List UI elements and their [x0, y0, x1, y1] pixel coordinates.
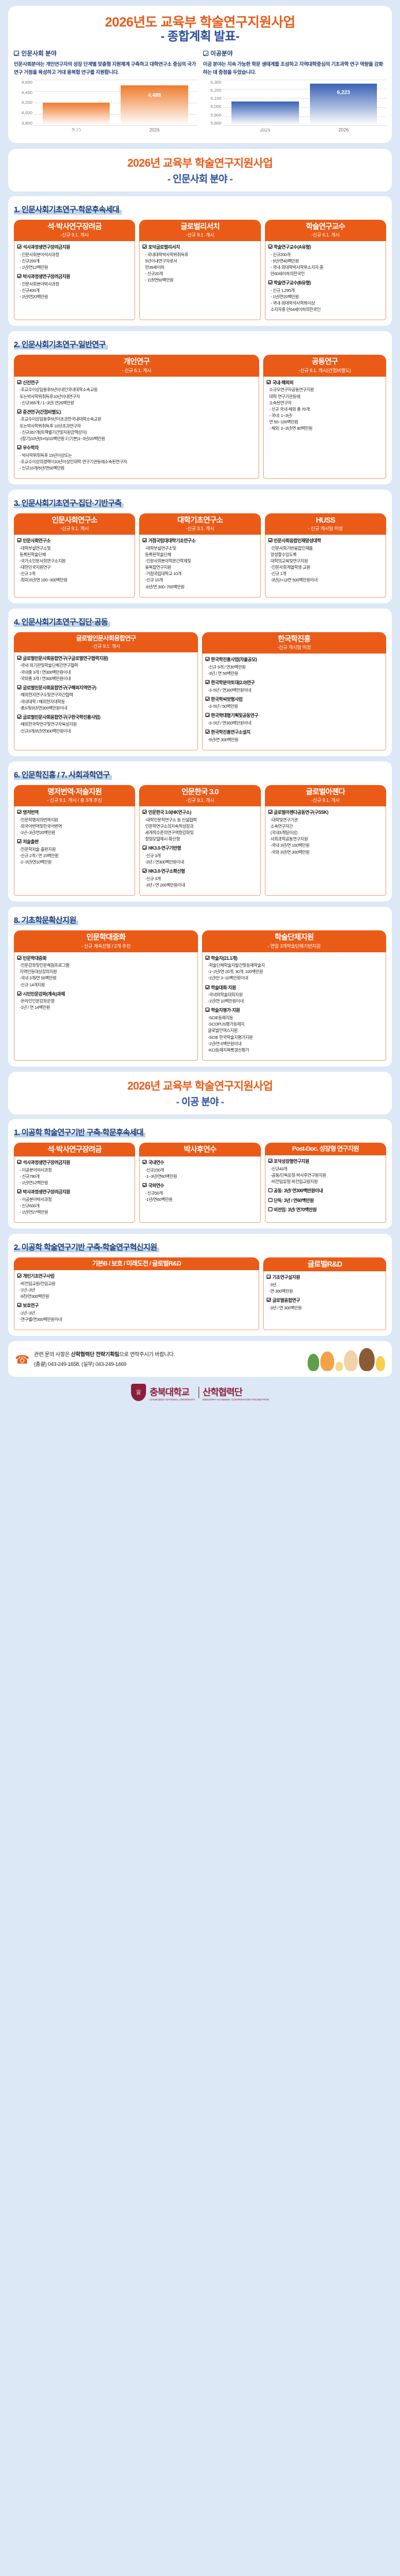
program-card[interactable]: 인문사회연구소-신규 9.1. 개시인문사회연구소-대학부설연구소및 등록된학술… — [14, 513, 135, 598]
card-item-detail-line: -인문사회분야학문간학제및 — [145, 558, 257, 564]
program-group: 2. 이공학 학술연구기반 구축-학술연구혁신지원기본B / 보호 / 미래도전… — [8, 1234, 392, 1336]
card-item: 한국학씨앗형사업-3~5년 / 50백만원 — [205, 696, 383, 710]
card-item-details: -5년/연 300백만원 — [205, 737, 383, 743]
card-item-label: HK3.0-연구기반형 — [148, 845, 181, 852]
card-body: 글로벌아젠다공동연구(구SSK)-대학및연구기관 소속연구자간 (국내3개팀이상… — [265, 806, 386, 896]
card-title: 석·박사연구장려금 — [16, 223, 133, 231]
checkbox-icon — [17, 715, 21, 719]
card-item-details: - 박사학위취득후 15년이상또는-조교수이상의경력이10년이상인대학·연구기관… — [17, 452, 256, 471]
card-item-details: -신규150개-1~3년/연60백만원 — [143, 1167, 257, 1180]
card-item-detail-line: -1년/만 3~10백만원이내 — [208, 975, 383, 981]
card-item-detail-line: -총3개/3년/연300백만원이내 — [20, 705, 195, 711]
bar-2025: 5,958 — [226, 102, 305, 125]
card-item-details: - 이공분야석사과정- 신규790개- 1년/연12백만원 — [17, 1167, 132, 1186]
card-item-label: 학술연구교수(A유형) — [274, 244, 311, 251]
card-item-detail-line: (국내3개팀이상) — [271, 829, 383, 836]
card-item: 국외연수- 신규50개-1년/연60백만원 — [143, 1182, 257, 1203]
card-item-label: 국내·해외의 — [272, 380, 293, 386]
card-item-detail-line: -대학부설연구소및 — [20, 545, 132, 551]
card-item: 글로벌인문사회융합연구(구해외지역연구)-해외현지연구소및연구자간협력-국내대학… — [17, 685, 195, 711]
card-item-label: 인문한국 3.0(HK연구소) — [148, 809, 191, 816]
card-item: 보호연구-1년~3년-연구별/연300백만원이내 — [17, 1302, 256, 1323]
mascot-group — [308, 1348, 385, 1371]
card-item-label: 한국학분야토대(2.0)연구 — [211, 679, 255, 686]
card-item-detail-line: - 인문사회분야석사과정 — [20, 251, 132, 258]
card-title: 글로벌리서치 — [141, 223, 258, 231]
card-item-detail-line: -9천/연300백만원 — [20, 1293, 256, 1300]
card-item-detail-line: 소지자중 만64세이하의한국인 — [271, 306, 383, 313]
card-item-detail-line: -인문사회계열학생·교원 — [271, 564, 383, 570]
card-item-header: 인문한국 3.0(HK연구소) — [143, 809, 257, 816]
hero-col-humanities: 인문사회 분야 인문사회분야는 개인연구자의 성장 단계별 맞춤형 지원체계 구… — [14, 49, 197, 136]
card-item-detail-line: -국외총 3개 / 연300백만원이내 — [20, 675, 195, 682]
card-item: 포닥글로벌리서치- 국내대학박사학위취득후 5년이내연구자로서 만39세이하- … — [143, 244, 257, 283]
card-item-header: 인문사회융합인재양성대학 — [268, 538, 383, 545]
card-header: 인문한국 3.0-신규 9.1. 개시 — [139, 785, 260, 806]
card-item-detail-line: - 박사학위취득후 15년이상또는 — [20, 452, 256, 459]
card-item-detail-line: -국내총 3개 / 연300백만원이내 — [20, 669, 195, 675]
bar-value: 4,191 — [37, 127, 115, 133]
card-item-detail-line: -대학인문학연구소 등 신설협력 — [145, 817, 257, 823]
card-item-details: -대학및연구기관 소속연구자간 (국내3개팀이상) 사회과학공동연구지원-국내 … — [268, 817, 383, 855]
card-item-header: 글로벌인문사회융합연구(구한국학진흥사업) — [17, 714, 195, 721]
checkbox-icon — [17, 380, 21, 384]
card-item-header: 글로벌인문사회융합연구(구해외지역연구) — [17, 685, 195, 692]
hero-columns: 인문사회 분야 인문사회분야는 개인연구자의 성장 단계별 맞춤형 지원체계 구… — [14, 49, 386, 136]
card-item-detail-line: 연 50~100백만원 — [269, 419, 383, 425]
card-title: 개인연구 — [16, 358, 257, 366]
card-item-header: 국내연수 — [143, 1159, 257, 1166]
checkbox-icon — [143, 810, 147, 814]
card-item-detail-line: -신규 14개지원 — [20, 982, 195, 988]
card-item-header: 신진연구 — [17, 380, 256, 386]
card-item-detail-line: -(장기)10년(5+5)/10백만원 // (기본)1~3년/20백만원 — [20, 435, 256, 442]
card-item: 국내연수-신규150개-1~3년/연60백만원 — [143, 1159, 257, 1180]
card-item-detail-line: - 신규 1,295개 — [271, 287, 383, 294]
card-item-detail-line: -3년 / 연 300백만원 — [269, 1305, 383, 1311]
card-item-details: -신규 3개-3년 / 연300백만원이내 — [143, 853, 257, 865]
card-body: 국내·해외의소규모연구자공동연구지원대학·연구기관등에소속된연구자- 신규 국내… — [263, 377, 386, 479]
card-item-detail-line: -신규43개 — [271, 1166, 383, 1172]
card-item-detail-line: - 신규50개 — [145, 1190, 257, 1196]
card-item-detail-line: - 이공분야석사과정 — [20, 1167, 132, 1173]
card-item-detail-line: -국내대학 / 해외현지대학등 — [20, 699, 195, 705]
y-tick: 6,200 — [203, 88, 222, 93]
checkbox-empty-icon — [268, 1207, 272, 1211]
card-item-detail-line: - 1년/연12백만원 — [20, 1180, 132, 1186]
card-item: 학술지(21.1개)-학술단체학술지발간및등재학술지-1~2년/연 20개, 3… — [205, 955, 383, 982]
card-item-detail-line: -학술단체학술지발간및등재학술지 — [208, 962, 383, 968]
checkbox-icon — [17, 685, 21, 689]
contact-footer: ☎ 관련 문의 사항은 산학협력단 전략기획팀으로 연락주시기 바랍니다. (총… — [8, 1341, 392, 1377]
card-item-details: -SCIE등재지등-SCOPUS평가등재지 글로벌인덱스지원-SCIE 한국학술… — [205, 1015, 383, 1053]
program-card[interactable]: 글로벌아젠다-신규 9.1. 개시글로벌아젠다공동연구(구SSK)-대학및연구기… — [265, 785, 386, 896]
card-subtitle: - 신규 계속진행 / 2개 추진 — [16, 942, 196, 949]
group-title: 2. 인문사회기초연구-일반연구 — [14, 338, 108, 350]
card-item-detail-line: 소규모연구자공동연구지원 — [269, 386, 383, 393]
bar-value: 4,489 — [115, 92, 194, 98]
card-header: 대학기초연구소-신규 3.1. 개시 — [139, 513, 260, 535]
card-item-detail-line: -온라인인문강좌운영 — [20, 998, 195, 1004]
card-item-detail-line: -국내 3개/연 50백만원 — [20, 975, 195, 981]
logo-dept-name: 산학협력단 — [203, 1384, 269, 1398]
checkbox-icon — [205, 697, 210, 701]
hero-science-heading-label: 이공분야 — [211, 49, 233, 58]
groups-science: 1. 이공학 학술연구기반 구축-학문후속세대석·박사연구장려금석사과정생연구장… — [8, 1119, 392, 1336]
card-item-detail-line: -신규 1개 — [271, 570, 383, 577]
card-item-detail-line: 인문학연구소의지속적성장과 — [145, 823, 257, 829]
checkbox-icon — [205, 680, 210, 684]
card-header: 인문학대중화- 신규 계속진행 / 2개 추진 — [14, 930, 198, 952]
group-title: 4. 인문사회기초연구-집단·공동 — [14, 615, 110, 628]
card-item-label: 학술지평가·지원 — [211, 1007, 240, 1014]
program-card[interactable]: HUSS- 신규 개시일 미정인문사회융합인재양성대학-인문사회기반융합인재를 … — [265, 513, 386, 598]
card-item-details: -3~5년 / 50백만원 — [205, 703, 383, 709]
card-item-detail-line: 대학의교육및연구지원 — [271, 558, 383, 564]
card-item-header: 학술지(21.1개) — [205, 955, 383, 962]
card-item-label: 석사과정생연구장려금지원 — [23, 244, 70, 251]
card-subtitle: -신규 개시일 미정 — [204, 644, 384, 651]
card-item-detail-line: -국외 3년/연 300백만원 — [271, 849, 383, 855]
card-item: 중견연구(간접비별도)-조교수이상임용후5년이초과한국내대학소속교원 또는박사학… — [17, 409, 256, 442]
bar-2026: 4,489 — [115, 85, 194, 125]
program-card[interactable]: 한국학진흥-신규 개시일 미정한국학진흥사업(자율공모)-신규 9개 / 연30… — [202, 632, 386, 750]
card-title: 한국학진흥 — [204, 635, 384, 643]
card-body: 기초연구실지원-3년-연 300백만원글로벌융합연구-3년 / 연 300백만원 — [263, 1271, 386, 1330]
card-item-label: 인문사회융합인재양성대학 — [274, 538, 321, 545]
card-item-detail-line: 글로벌인덱스지원 — [208, 1027, 383, 1034]
card-item-detail-line: 만60세이하의한국인 — [271, 271, 383, 277]
card-item-details: -3~5년 / 연300백만원이내 — [205, 687, 383, 693]
card-item-detail-line: 5년이내연구자로서 — [145, 258, 257, 264]
checkbox-icon — [267, 1298, 271, 1302]
card-item-detail-line: 사회과학공동연구지원 — [271, 836, 383, 842]
card-header: 학술연구교수-신규 6.1. 개시 — [265, 220, 386, 241]
card-item-detail-line: - 신규600개 — [20, 1203, 132, 1209]
program-card[interactable]: 박사후연수국내연수-신규150개-1~3년/연60백만원국외연수- 신규50개-… — [139, 1143, 260, 1223]
card-item: 명저번역-인문학명저의번역지원-외국어번역및한국어번역-1년~3년/연20백만원 — [17, 809, 132, 836]
hero-col-science: 이공분야 이공 분야는 지속 가능한 학문 생태계를 조성하고 지역대학중심의 … — [203, 49, 387, 136]
banner-science: 2026년 교육부 학술연구지원사업 - 이공 분야 - — [8, 1072, 392, 1114]
card-subtitle: -신규 9.1. 개시 — [141, 797, 258, 803]
card-item-detail-line: -해외한국학연구및연구자육성지원 — [20, 721, 195, 727]
mascot-chick-icon — [335, 1362, 343, 1371]
card-item-detail-line: -1년~3년 — [20, 1287, 256, 1293]
card-item-details: -1년~3년-연구별/연300백만원이내 — [17, 1310, 256, 1323]
card-header: 박사후연수 — [139, 1143, 260, 1156]
program-card[interactable]: 석·박사연구장려금석사과정생연구장려금지원- 이공분야석사과정- 신규790개-… — [14, 1143, 135, 1223]
card-item-detail-line: 정형모델제시·확산형 — [145, 836, 257, 842]
y-tick: 6,300 — [203, 80, 222, 85]
program-card[interactable]: 글로벌리서치-신규 9.1. 개시포닥글로벌리서치- 국내대학박사학위취득후 5… — [139, 220, 260, 321]
program-group: 6. 인문학진흥 / 7. 사회과학연구명저번역·저술지원- 신규 9.1. 개… — [8, 761, 392, 902]
y-tick: 4,000 — [14, 110, 32, 115]
card-title: 학술연구교수 — [267, 223, 384, 231]
card-item: 학술연구교수(A유형)- 신규200개- 5년/연40백만원- 국내·외대학박사… — [268, 244, 383, 277]
card-item: 석사과정생연구장려금지원- 인문사회분야석사과정- 신규200개- 1년/연12… — [17, 244, 132, 271]
program-card[interactable]: 학술연구교수-신규 6.1. 개시학술연구교수(A유형)- 신규200개- 5년… — [265, 220, 386, 321]
card-item-detail-line: - 이공분야박사과정 — [20, 1196, 132, 1203]
card-item-details: -3년 / 연 300백만원 — [267, 1305, 383, 1311]
card-item: 저술출판-인문학저술·출판지원-신규 2개 / 연 15백만원-2~3년/연10… — [17, 839, 132, 865]
card-item-header: 한국학분야토대(2.0)연구 — [205, 679, 383, 686]
card-body: 학술지(21.1개)-학술단체학술지발간및등재학술지-1~2년/연 20개, 3… — [202, 952, 386, 1061]
card-item-detail-line: - 신규355개 / 1~3년/ 연26백만원 — [20, 400, 256, 406]
card-item: 박사과정생연구장려금지원- 인문사회분야박사과정- 신규400개- 2년/연20… — [17, 273, 132, 300]
card-item-header: 명저번역 — [17, 809, 132, 816]
card-item-label: 한국학씨앗형사업 — [211, 696, 243, 703]
program-card[interactable]: 명저번역·저술지원- 신규 9.1. 개시 / 총 3개 추진명저번역-인문학명… — [14, 785, 135, 896]
card-item-label: 공동: 3년/ 연300백만원이내 — [274, 1188, 323, 1195]
card-item-header: 기초연구실지원 — [267, 1274, 383, 1281]
card-body: 포닥성장형연구지원-신규43개-공동/단독유형·박사후연구원지원-비전임유형·비… — [265, 1155, 386, 1223]
bar-2026: 6,223 — [304, 84, 383, 125]
card-item-label: 국외연수 — [148, 1182, 164, 1189]
card-item-detail-line: -인문학저술·출판지원 — [20, 846, 132, 853]
checkbox-icon — [268, 245, 272, 249]
card-item-label: 학술대회·지원 — [211, 985, 236, 992]
card-item-label: 저술출판 — [23, 839, 39, 846]
card-item-detail-line: -신규 3개 — [145, 876, 257, 882]
card-item-details: -학술단체학술지발간및등재학술지-1~2년/연 20개, 30개, 100백만원… — [205, 962, 383, 981]
card-item-label: 인문학대중화 — [23, 955, 47, 962]
card-item-details: - 신규 1,295개- 1년/연20백만원- 국내·외대학석사학위이상 소지자… — [268, 287, 383, 313]
card-body: 한국학진흥사업(자율공모)-신규 9개 / 연30백만원-3년 / 연 50백만… — [202, 654, 386, 750]
card-item-header: 개인기초연구사업 — [17, 1273, 256, 1280]
card-item-detail-line: 융복합연구지원 — [145, 564, 257, 570]
card-item-label: 글로벌인문사회융합연구(구해외지역연구) — [23, 685, 96, 692]
y-tick: 5,900 — [203, 112, 222, 118]
checkbox-icon — [17, 1303, 21, 1307]
card-item-label: 인문사회연구소 — [23, 538, 51, 545]
card-item: HK3.0-연구기반형-신규 3개-3년 / 연300백만원이내 — [143, 845, 257, 865]
card-item: 국내·해외의소규모연구자공동연구지원대학·연구기관등에소속된연구자- 신규 국내… — [267, 380, 383, 431]
card-item: 공동: 3년/ 연300백만원이내 — [268, 1188, 383, 1195]
program-card[interactable]: 글로벌R&D기초연구실지원-3년-연 300백만원글로벌융합연구-3년 / 연 … — [263, 1257, 386, 1330]
card-item-details: - 신규50개-1년/연60백만원 — [143, 1190, 257, 1203]
card-body: 인문사회융합인재양성대학-인문사회기반융합인재를 양성할수있도록 대학의교육및연… — [265, 535, 386, 597]
card-item-details: -해외한국학연구및연구자육성지원-신규3개/3년/연300백만원이내 — [17, 721, 195, 734]
program-card[interactable]: 인문학대중화- 신규 계속진행 / 2개 추진인문학대중화-인문강좌및인문체험프… — [14, 930, 198, 1061]
card-item-details: -조교수이상임용후5년이내인국내대학소속교원 또는박사학위취득후10년이내연구자… — [17, 386, 256, 405]
card-body: 석사과정생연구장려금지원- 인문사회분야석사과정- 신규200개- 1년/연12… — [14, 241, 135, 320]
card-item-detail-line: -외국어번역및한국어번역 — [20, 823, 132, 829]
card-item-header: 박사과정생연구장려금지원 — [17, 1189, 132, 1196]
card-item-detail-line: - 국내·외대학석사학위이상 — [271, 300, 383, 306]
x-tick: 2026 — [115, 127, 194, 133]
card-item: 한국학진흥사업(자율공모)-신규 9개 / 연30백만원-3년 / 연 50백만… — [205, 656, 383, 677]
card-title: 대학기초연구소 — [141, 516, 258, 524]
card-item-details: -대학인문학연구소 등 신설협력 인문학연구소의지속적성장과 세계적수준의연구역… — [143, 817, 257, 842]
program-group: 8. 기초학문확산지원인문학대중화- 신규 계속진행 / 2개 추진인문학대중화… — [8, 907, 392, 1067]
checkbox-icon — [17, 274, 21, 278]
card-item-detail-line: 등록된학술단체 — [20, 551, 132, 558]
card-subtitle: -신규 6.1. 개시(간접비별도) — [266, 367, 384, 374]
card-item: 학술연구교수(B유형)- 신규 1,295개- 1년/연20백만원- 국내·외대… — [268, 280, 383, 313]
card-header: Post-Doc. 성장형 연구지원 — [265, 1143, 386, 1155]
checkbox-icon — [17, 445, 21, 449]
card-item-label: HK3.0-연구소확산형 — [148, 868, 185, 875]
card-item-detail-line: -3년 — [269, 1282, 383, 1288]
card-item-header: 공동: 3년/ 연300백만원이내 — [268, 1188, 383, 1195]
card-item-detail-line: 만39세이하 — [145, 264, 257, 271]
card-item-header: 글로벌융합연구 — [267, 1297, 383, 1304]
card-item-label: 박사과정생연구장려금지원 — [23, 1189, 70, 1196]
card-item-detail-line: -6년/연 300~700백만원 — [145, 584, 257, 590]
card-item-detail-line: - 5년/연40백만원 — [271, 258, 383, 264]
card-item-detail-line: -공동/단독유형·박사후연구원지원 — [271, 1172, 383, 1178]
card-title: 학술단체지원 — [204, 933, 384, 941]
card-item-label: 글로벌인문사회융합연구(구한국학진흥사업) — [23, 714, 100, 721]
card-item-header: 학술대회·지원 — [205, 985, 383, 992]
checkbox-icon — [267, 380, 271, 384]
card-item-label: 기초연구실지원 — [272, 1274, 300, 1281]
program-card[interactable]: 기본B / 보호 / 미래도전 / 글로벌R&D개인기초연구사업-비전임교원/전… — [14, 1257, 259, 1330]
card-item-detail-line: - 신규400개 — [20, 287, 132, 294]
program-card[interactable]: 대학기초연구소-신규 3.1. 개시거점국립대대학기초연구소-대학부설연구소및 … — [139, 513, 260, 598]
card-list: 인문사회연구소-신규 9.1. 개시인문사회연구소-대학부설연구소및 등록된학술… — [14, 513, 386, 598]
card-item-detail-line: - 신규357개(트랙별기간및지원금액상이) — [20, 429, 256, 435]
card-header: 인문사회연구소-신규 9.1. 개시 — [14, 513, 135, 535]
checkbox-empty-icon — [268, 1188, 272, 1192]
card-item-detail-line: - 1년/연27백만원 — [20, 1209, 132, 1215]
program-card[interactable]: Post-Doc. 성장형 연구지원포닥성장형연구지원-신규43개-공동/단독유… — [265, 1143, 386, 1223]
card-item-label: 보호연구 — [23, 1302, 39, 1309]
card-item-header: 시민인문강좌(계속)과제 — [17, 991, 195, 998]
card-title: 공동연구 — [266, 358, 384, 366]
card-item-details: -인문강좌및인문체험프로그램 지역민등대상강좌지원-국내 3개/연 50백만원-… — [17, 962, 195, 987]
card-item-details: -신규43개-공동/단독유형·박사후연구원지원-비전임유형·비전임교원지원 — [268, 1166, 383, 1185]
checkbox-icon — [143, 846, 147, 850]
checkbox-icon — [17, 538, 21, 542]
contact-line1-pre: 관련 문의 사항은 — [34, 1351, 71, 1357]
card-title: 인문한국 3.0 — [141, 788, 258, 796]
contact-team: 산학협력단 전략기획팀 — [71, 1351, 119, 1357]
card-subtitle: -신규 9.1. 개시 — [16, 231, 133, 238]
mascot-tiger-icon — [320, 1351, 334, 1371]
card-item-header: 학술연구교수(A유형) — [268, 244, 383, 251]
card-item-label: 단독: 3년 / 연60백만원 — [274, 1197, 313, 1204]
card-item-detail-line: -3~5년 / 50백만원 — [208, 703, 383, 709]
y-tick: 4,600 — [14, 80, 32, 85]
card-item-header: 석사과정생연구장려금지원 — [17, 244, 132, 251]
group-title: 2. 이공학 학술연구기반 구축-학술연구혁신지원 — [14, 1241, 159, 1253]
hero-panel: 2026년도 교육부 학술연구지원사업 - 종합계획 발표- 인문사회 분야 인… — [8, 6, 392, 143]
card-item-detail-line: 대학·연구기관등에 — [269, 393, 383, 400]
card-item: 학술대회·지원-국내외학술대회지원-1년/연 10백만원이내 — [205, 985, 383, 1005]
card-item-header: 글로벌인문사회융합연구(구글로벌연구협력지원) — [17, 655, 195, 662]
card-item-detail-line: -인문학명저의번역지원 — [20, 817, 132, 823]
card-item-label: 글로벌융합연구 — [272, 1297, 300, 1304]
card-item-detail-line: -3년 / 연300백만원이내 — [145, 859, 257, 865]
card-item-header: 국내·해외의 — [267, 380, 383, 386]
card-item-detail-line: -국가소인문사회연구소지원 — [20, 558, 132, 564]
hero-science-heading: 이공분야 — [203, 49, 387, 58]
card-item: 글로벌융합연구-3년 / 연 300백만원 — [267, 1297, 383, 1311]
card-item-detail-line: - 1년/연50백만원 — [145, 277, 257, 283]
card-item-details: -해외현지연구소및연구자간협력-국내대학 / 해외현지대학등-총3개/3년/연3… — [17, 692, 195, 711]
card-item-header: 단독: 3년 / 연60백만원 — [268, 1197, 383, 1204]
card-item: 글로벌인문사회융합연구(구글로벌연구협력지원)-국내·외기관및학술단체간연구협력… — [17, 655, 195, 682]
card-item: 한국학대형기획및공동연구-3~5년 / 연300백만원이내 — [205, 712, 383, 726]
card-item-detail-line: - 신규20개 — [145, 271, 257, 277]
phone-icon: ☎ — [15, 1353, 29, 1367]
card-item-detail-line: - 신규200개 — [271, 251, 383, 258]
bar-value: 5,958 — [226, 125, 305, 130]
card-item-label: 포닥성장형연구지원 — [274, 1158, 309, 1165]
card-item: 거점국립대대학기초연구소-대학부설연구소및 등록된학술단체-인문사회분야학문간학… — [143, 538, 257, 589]
card-item-detail-line: -3년(2+1)/연 500백만원이내 — [271, 577, 383, 583]
card-subtitle: -신규 9.1. 개시 — [141, 231, 258, 238]
card-item-detail-line: - 신규10개/5년/연50백만원 — [20, 465, 256, 471]
hero-title-line1: 2026년도 교육부 학술연구지원사업 — [14, 15, 386, 30]
card-item-detail-line: -국내·외기관및학술단체간연구협력 — [20, 662, 195, 669]
checkbox-icon — [267, 1275, 271, 1279]
card-item-details: -3년-연 300백만원 — [267, 1282, 383, 1294]
program-group: 3. 인문사회기초연구-집단·기반구축인문사회연구소-신규 9.1. 개시인문사… — [8, 490, 392, 603]
card-item-detail-line: -1년/연 10백만원이내 — [208, 998, 383, 1004]
card-body: 개인기초연구사업-비전임교원/전임교원-1년~3년-9천/연300백만원보호연구… — [14, 1270, 259, 1330]
card-item-label: 한국학진흥연구소설치 — [211, 729, 251, 736]
checkbox-icon — [143, 1160, 147, 1164]
program-card[interactable]: 개인연구- 신규 6.1. 개시신진연구-조교수이상임용후5년이내인국내대학소속… — [14, 355, 259, 478]
card-item-header: 한국학진흥사업(자율공모) — [205, 656, 383, 663]
card-item: 인문학대중화-인문강좌및인문체험프로그램 지역민등대상강좌지원-국내 3개/연 … — [17, 955, 195, 988]
card-item-detail-line: -국내외학술대회지원 — [208, 992, 383, 998]
card-item: 글로벌인문사회융합연구(구한국학진흥사업)-해외한국학연구및연구자육성지원-신규… — [17, 714, 195, 734]
card-header: 글로벌R&D — [263, 1257, 386, 1271]
card-item-detail-line: -1~2년/연 20개, 30개, 100백만원 — [208, 968, 383, 975]
card-item-details: -인문사회기반융합인재를 양성할수있도록 대학의교육및연구지원-인문사회계열학생… — [268, 545, 383, 584]
program-card[interactable]: 석·박사연구장려금-신규 9.1. 개시석사과정생연구장려금지원- 인문사회분야… — [14, 220, 135, 321]
card-item-detail-line: -1~3년/연60백만원 — [145, 1173, 257, 1180]
card-item-detail-line: -KCI등재지목록갱신평가 — [208, 1047, 383, 1053]
card-item-details: 소규모연구자공동연구지원대학·연구기관등에소속된연구자- 신규 국내·해외 총 … — [267, 386, 383, 431]
card-header: 글로벌인문사회융합연구-신규 9.1. 개시 — [14, 632, 198, 652]
card-item-detail-line: -신규3개/3년/연300백만원이내 — [20, 728, 195, 734]
card-header: HUSS- 신규 개시일 미정 — [265, 513, 386, 535]
card-item-detail-line: -신규 2개 / 연 15백만원 — [20, 853, 132, 859]
card-item-detail-line: - 국내대학박사학위취득후 — [145, 251, 257, 258]
card-item-detail-line: -1년~3년/연20백만원 — [20, 829, 132, 836]
contact-line2: (총괄) 043-249-1658, (실무) 043-249-1469 — [34, 1360, 175, 1369]
card-item-detail-line: -대학부설연구소및 — [145, 545, 257, 551]
program-card[interactable]: 글로벌인문사회융합연구-신규 9.1. 개시글로벌인문사회융합연구(구글로벌연구… — [14, 632, 198, 750]
card-body: 인문한국 3.0(HK연구소)-대학인문학연구소 등 신설협력 인문학연구소의지… — [139, 806, 260, 896]
card-body: 거점국립대대학기초연구소-대학부설연구소및 등록된학술단체-인문사회분야학문간학… — [139, 535, 260, 597]
card-item-details: - 인문사회분야박사과정- 신규400개- 2년/연20백만원 — [17, 281, 132, 300]
card-item-label: 학술지(21.1개) — [211, 955, 238, 962]
checkbox-icon — [17, 992, 21, 996]
program-card[interactable]: 공동연구-신규 6.1. 개시(간접비별도)국내·해외의소규모연구자공동연구지원… — [263, 355, 386, 478]
checkbox-icon — [268, 810, 272, 814]
checkbox-icon — [205, 985, 210, 989]
group-title: 1. 이공학 학술연구기반 구축-학문후속세대 — [14, 1126, 145, 1138]
card-body: 포닥글로벌리서치- 국내대학박사학위취득후 5년이내연구자로서 만39세이하- … — [139, 241, 260, 320]
card-item-header: HK3.0-연구기반형 — [143, 845, 257, 852]
program-card[interactable]: 인문한국 3.0-신규 9.1. 개시인문한국 3.0(HK연구소)-대학인문학… — [139, 785, 260, 896]
card-item: 기초연구실지원-3년-연 300백만원 — [267, 1274, 383, 1294]
card-item: 석사과정생연구장려금지원- 이공분야석사과정- 신규790개- 1년/연12백만… — [17, 1159, 132, 1186]
hero-humanities-desc: 인문사회분야는 개인연구자의 성장 단계별 맞춤형 지원체계 구축하고 대학연구… — [14, 61, 197, 76]
card-item-detail-line: - 인문사회분야박사과정 — [20, 281, 132, 287]
card-item-label: 시민인문강좌(계속)과제 — [23, 991, 65, 998]
program-card[interactable]: 학술단체지원- 연말 3개학술단체기반지원학술지(21.1개)-학술단체학술지발… — [202, 930, 386, 1061]
card-item-detail-line: -2~3년/연10백만원 — [20, 859, 132, 865]
hero-science-desc: 이공 분야는 지속 가능한 학문 생태계를 조성하고 지역대학중심의 기초과학 … — [203, 61, 387, 76]
card-item-details: -대학부설연구소및 등록된학술단체-국가소인문사회연구소지원-대한민국지원연구-… — [17, 545, 132, 584]
card-item-details: -대학부설연구소및 등록된학술단체-인문사회분야학문간학제및 융복합연구지원-거… — [143, 545, 257, 590]
